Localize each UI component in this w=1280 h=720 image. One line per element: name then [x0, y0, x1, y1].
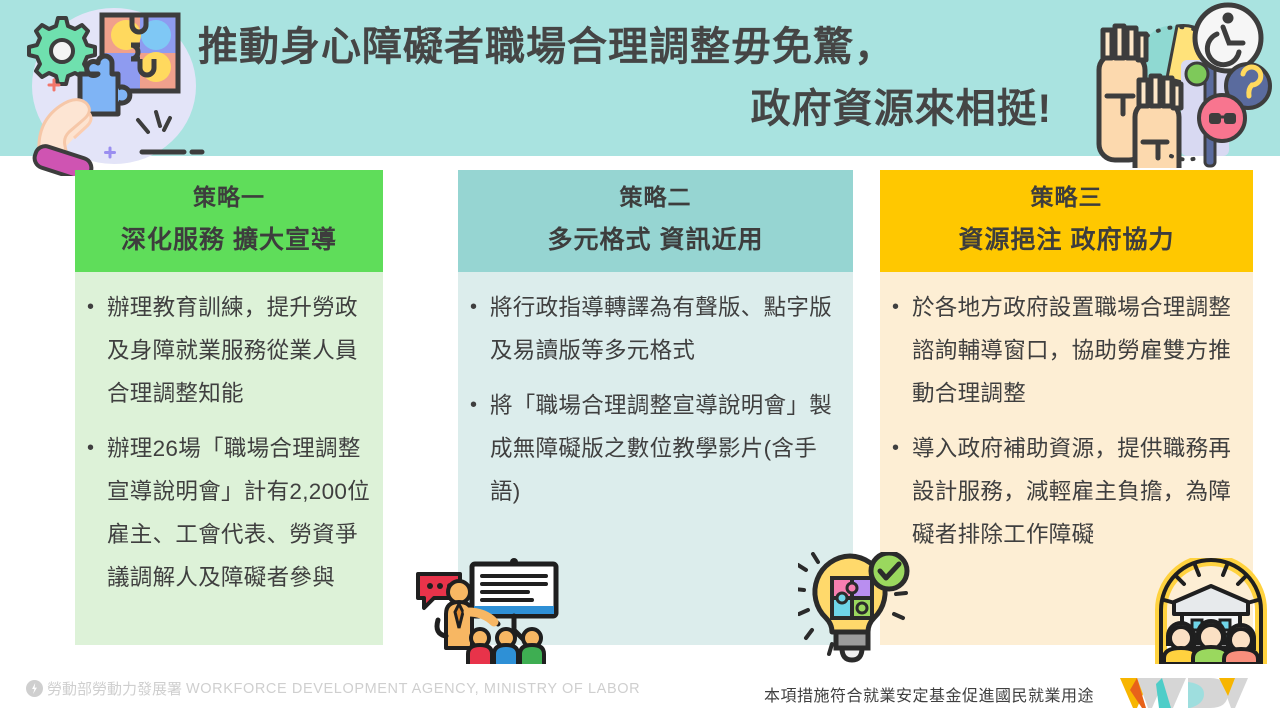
strategy-3-header: 策略三 資源挹注 政府協力	[880, 170, 1253, 272]
government-building-people-icon	[1150, 558, 1272, 666]
strategy-1-header: 策略一 深化服務 擴大宣導	[75, 170, 383, 272]
list-item: 導入政府補助資源，提供職務再設計服務，減輕雇主負擔，為障礙者排除工作障礙	[886, 427, 1243, 556]
list-item: 將行政指導轉譯為有聲版、點字版及易讀版等多元格式	[464, 286, 843, 372]
page-title: 推動身心障礙者職場合理調整毋免驚， 政府資源來相挺!	[190, 16, 1070, 140]
agency-name-en: WORKFORCE DEVELOPMENT AGENCY, MINISTRY O…	[186, 681, 640, 697]
list-item: 將「職場合理調整宣導說明會」製成無障礙版之數位教學影片(含手語)	[464, 384, 843, 513]
strategy-1-body: 辦理教育訓練，提升勞政及身障就業服務從業人員合理調整知能 辦理26場「職場合理調…	[75, 272, 383, 645]
page-title-line-1: 推動身心障礙者職場合理調整毋免驚，	[190, 16, 1070, 78]
list-item: 辦理26場「職場合理調整宣導說明會」計有2,200位雇主、工會代表、勞資爭議調解…	[81, 427, 373, 599]
footer: 勞動部勞動力發展署 WORKFORCE DEVELOPMENT AGENCY, …	[0, 664, 1280, 720]
strategy-2-subtitle: 多元格式 資訊近用	[464, 220, 847, 260]
strategy-1-subtitle: 深化服務 擴大宣導	[81, 220, 377, 260]
strategy-column-1: 策略一 深化服務 擴大宣導 辦理教育訓練，提升勞政及身障就業服務從業人員合理調整…	[75, 170, 383, 645]
footer-note: 本項措施符合就業安定基金促進國民就業用途	[764, 682, 1094, 706]
wda-logo	[1116, 676, 1266, 712]
strategy-2-bullet-list: 將行政指導轉譯為有聲版、點字版及易讀版等多元格式 將「職場合理調整宣導說明會」製…	[464, 286, 843, 513]
strategy-3-subtitle: 資源挹注 政府協力	[886, 220, 1247, 260]
strategy-3-bullet-list: 於各地方政府設置職場合理調整諮詢輔導窗口，協助勞雇雙方推動合理調整 導入政府補助…	[886, 286, 1243, 556]
lightbulb-puzzle-check-icon	[798, 552, 910, 668]
raised-fists-accessibility-icon	[1085, 0, 1275, 168]
list-item: 辦理教育訓練，提升勞政及身障就業服務從業人員合理調整知能	[81, 286, 373, 415]
list-item: 於各地方政府設置職場合理調整諮詢輔導窗口，協助勞雇雙方推動合理調整	[886, 286, 1243, 415]
page-title-line-2: 政府資源來相挺!	[190, 78, 1070, 140]
agency-name-zh: 勞動部勞動力發展署	[47, 678, 182, 699]
infographic-page: 推動身心障礙者職場合理調整毋免驚， 政府資源來相挺! 策略一 深化服務 擴大宣導…	[0, 0, 1280, 720]
strategy-2-header: 策略二 多元格式 資訊近用	[458, 170, 853, 272]
presenter-training-board-icon	[402, 556, 560, 668]
strategy-3-number: 策略三	[886, 180, 1247, 214]
strategy-1-number: 策略一	[81, 180, 377, 214]
strategy-1-bullet-list: 辦理教育訓練，提升勞政及身障就業服務從業人員合理調整知能 辦理26場「職場合理調…	[81, 286, 373, 599]
strategy-2-number: 策略二	[464, 180, 847, 214]
agency-logo-icon	[26, 680, 43, 697]
footer-right: 本項措施符合就業安定基金促進國民就業用途	[764, 676, 1266, 712]
hand-holding-puzzle-piece-icon	[14, 0, 214, 176]
footer-agency: 勞動部勞動力發展署 WORKFORCE DEVELOPMENT AGENCY, …	[26, 678, 640, 699]
